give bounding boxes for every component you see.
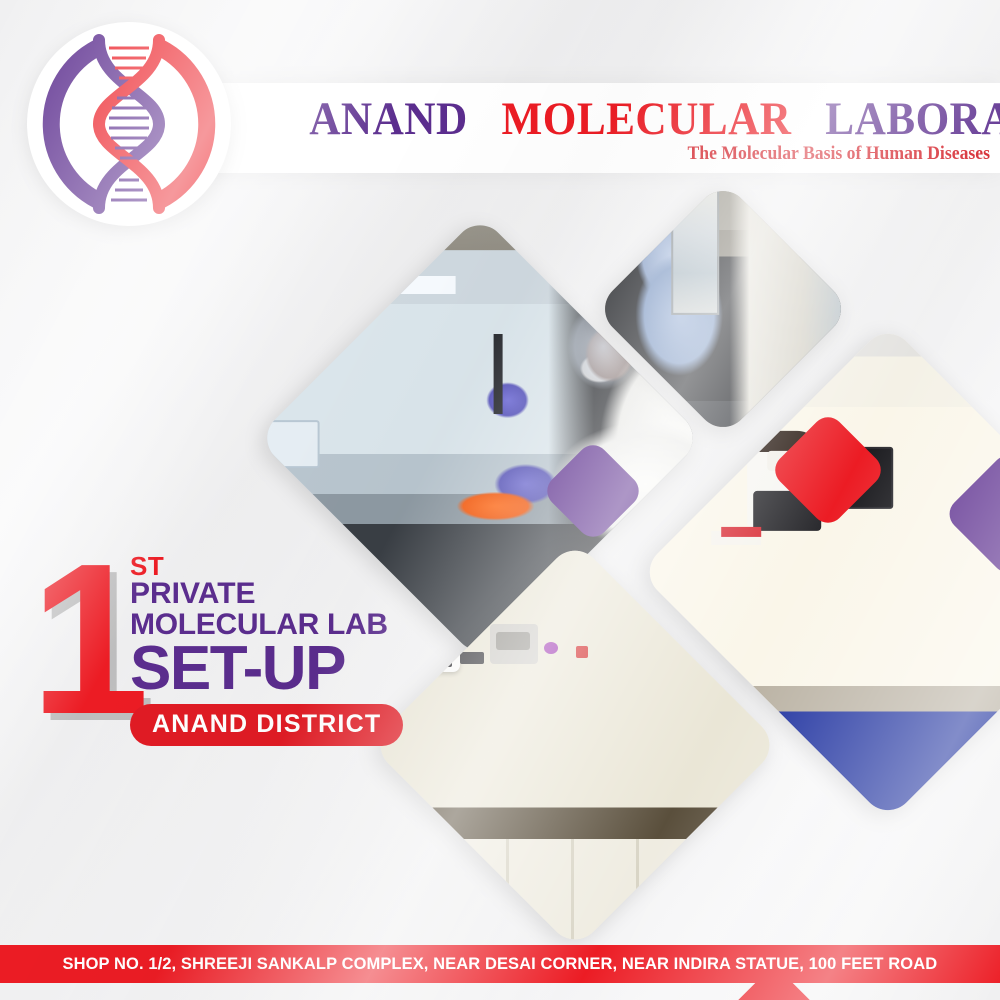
cabinet-doors: [370, 839, 780, 950]
lab-refrigerator: [671, 180, 719, 315]
brand-title: ANAND MOLECULAR LABORATORY: [309, 90, 990, 148]
purple-diamond-decoration: [956, 990, 1000, 1000]
cabinet-sticker: [458, 215, 484, 246]
red-rack: [576, 646, 588, 658]
centrifuge: [490, 624, 538, 664]
headline-line-setup: SET-UP: [130, 638, 450, 700]
headline-number: 1: [30, 544, 144, 734]
brand-word-molecular: MOLECULAR: [501, 93, 791, 145]
district-badge: ANAND DISTRICT: [130, 704, 403, 746]
sample-tray: [257, 420, 320, 468]
headline-text-column: ST PRIVATE MOLECULAR LAB SET-UP ANAND DI…: [130, 554, 450, 746]
headline-block: 1 ST PRIVATE MOLECULAR LAB SET-UP ANAND …: [30, 538, 450, 758]
bench-device: [460, 652, 484, 664]
brand-word-laboratory: LABORATORY: [825, 93, 1000, 145]
cabinet-label: [392, 215, 450, 216]
brand-word-anand: ANAND: [309, 93, 467, 145]
pressure-gauge-icon: [268, 215, 338, 252]
address-text: SHOP NO. 1/2, SHREEJI SANKALP COMPLEX, N…: [63, 954, 938, 974]
purple-cap-tube: [544, 642, 558, 654]
address-banner: SHOP NO. 1/2, SHREEJI SANKALP COMPLEX, N…: [0, 945, 1000, 983]
headline-ordinal: ST: [130, 554, 450, 578]
headline-line-private: PRIVATE: [130, 578, 450, 609]
dna-helix-icon: [27, 22, 231, 226]
laboratory-logo: [27, 22, 231, 226]
desk-folder: [721, 527, 761, 537]
poster-canvas: ANAND MOLECULAR LABORATORY The Molecular…: [0, 0, 1000, 1000]
brand-tagline: The Molecular Basis of Human Diseases: [441, 143, 990, 167]
